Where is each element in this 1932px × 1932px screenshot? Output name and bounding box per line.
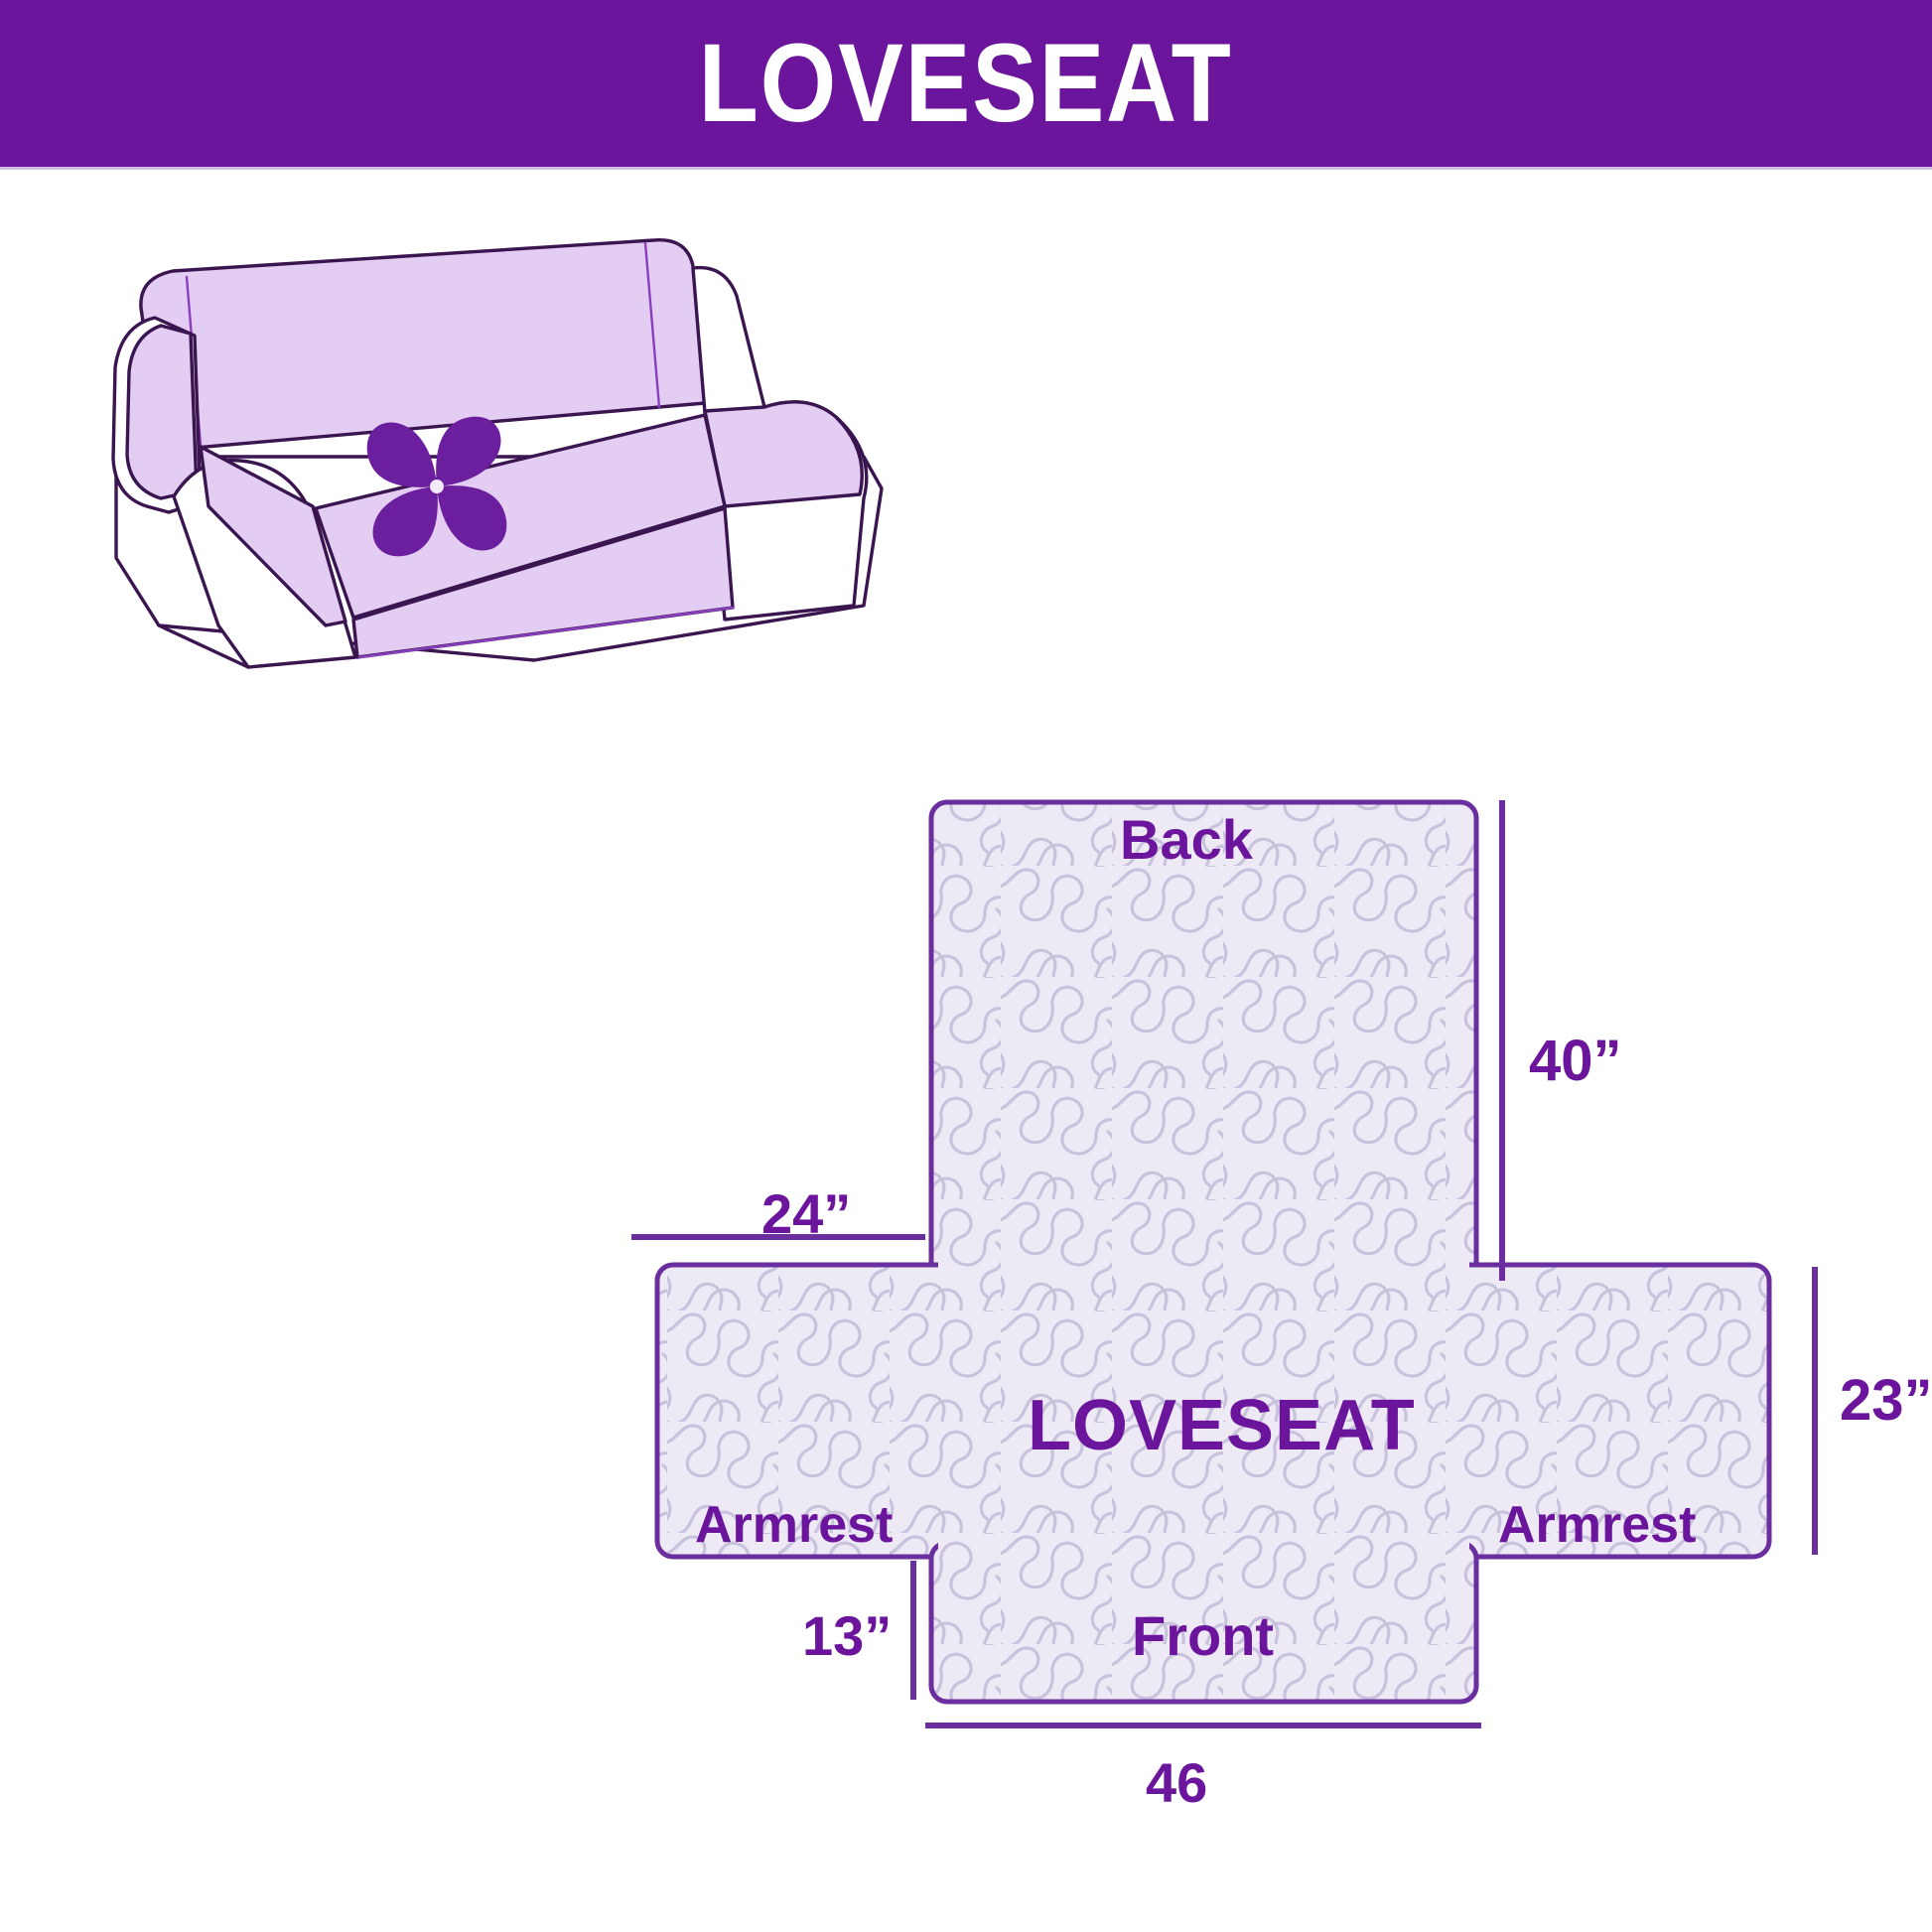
page-title: LOVESEAT <box>699 28 1233 139</box>
dimension-label-armrest-height: 23” <box>1840 1372 1932 1430</box>
dimension-label-back-width: 24” <box>761 1186 851 1242</box>
slipcover-pattern-diagram <box>556 755 1932 1847</box>
loveseat-illustration: .ln{fill:none;stroke:#3A1550;stroke-widt… <box>69 208 943 705</box>
dimension-label-back-height: 40” <box>1529 1033 1622 1090</box>
header-banner: LOVESEAT <box>0 0 1932 167</box>
seam-mask-bottom <box>938 1539 1469 1555</box>
dimension-label-front-width: 46 <box>1146 1755 1207 1811</box>
sofa-backrest <box>141 240 705 451</box>
sofa-armrest-right-top <box>705 402 862 506</box>
sofa-armrest-left-fill <box>127 326 197 498</box>
label-center-loveseat: LOVESEAT <box>1028 1390 1416 1461</box>
seam-mask-top <box>938 1259 1469 1275</box>
label-back: Back <box>1120 812 1253 868</box>
label-armrest-right: Armrest <box>1498 1499 1696 1551</box>
product-dimension-diagram: LOVESEAT .ln{fill:none;stroke:#3A1550;st… <box>0 0 1932 1932</box>
label-front: Front <box>1132 1608 1274 1664</box>
back-panel <box>931 802 1476 1279</box>
label-armrest-left: Armrest <box>695 1499 893 1551</box>
pattern-svg <box>556 755 1932 1847</box>
cross-shape-group <box>657 802 1769 1702</box>
sofa-svg: .ln{fill:none;stroke:#3A1550;stroke-widt… <box>69 208 943 705</box>
dimension-label-front-height: 13” <box>802 1608 892 1664</box>
